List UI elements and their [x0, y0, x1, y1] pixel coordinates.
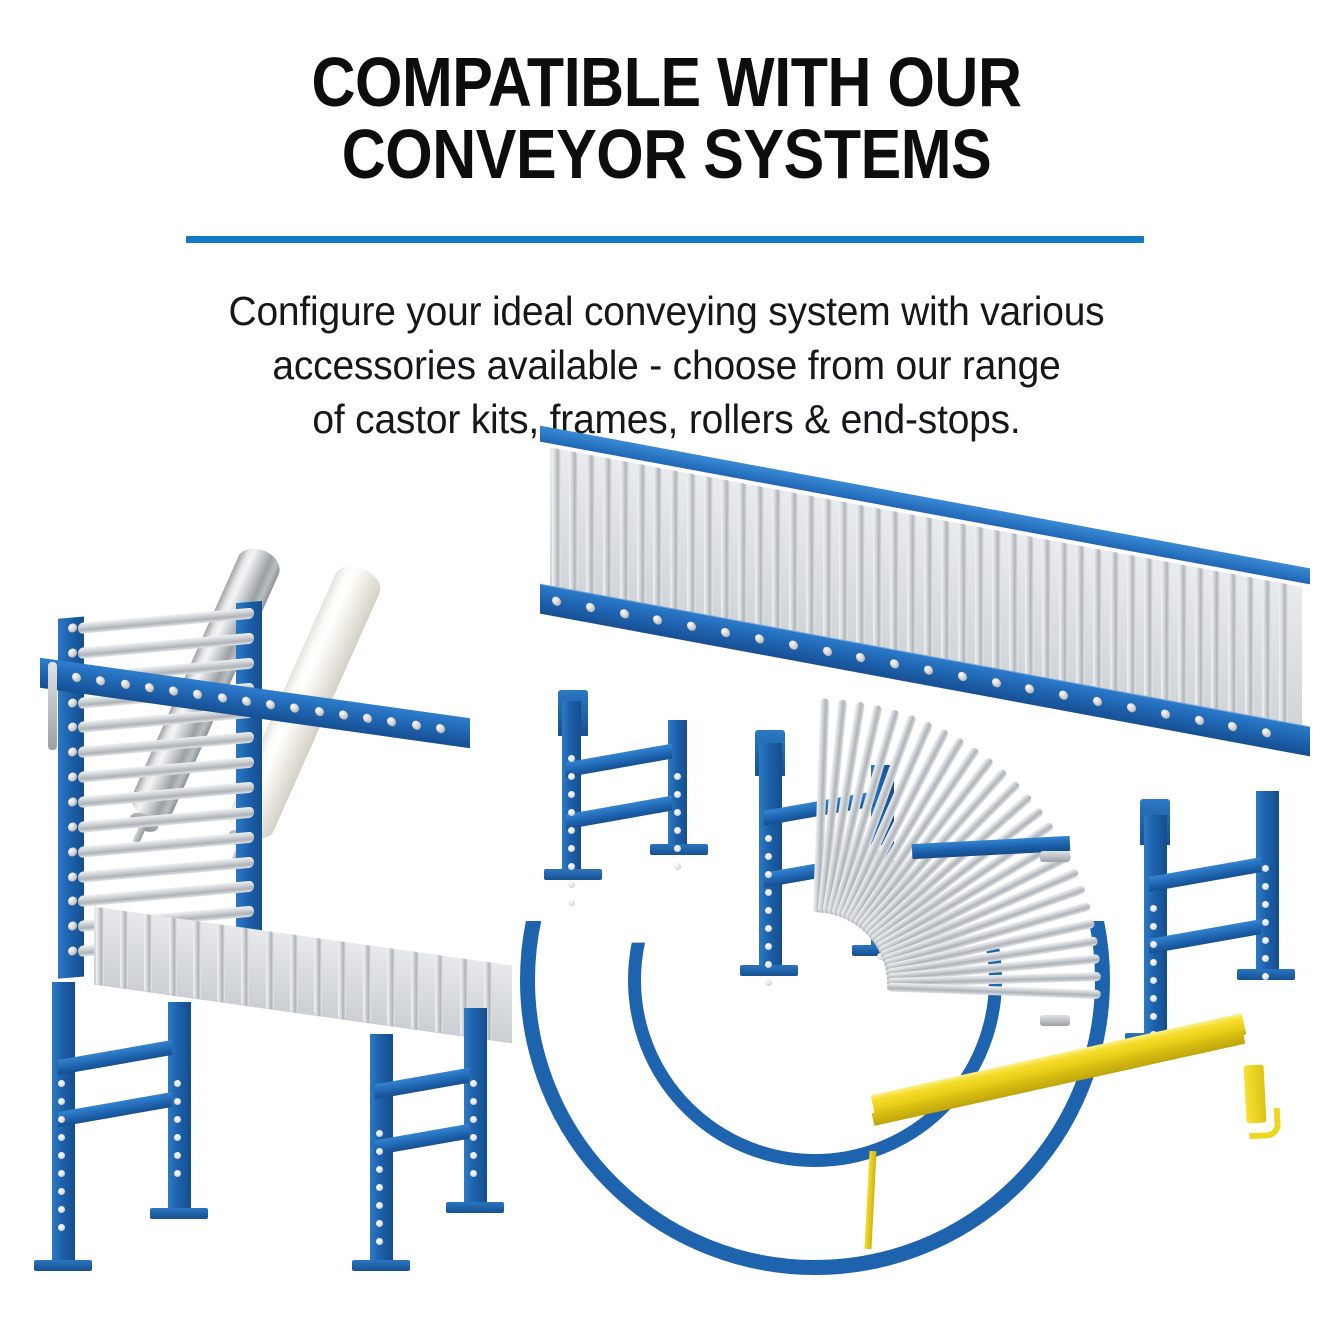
roller — [620, 460, 629, 612]
leg-pin-hole — [568, 827, 575, 834]
roller — [1144, 558, 1153, 710]
leg-pin-hole — [674, 809, 681, 816]
leg-foot-plate — [150, 1208, 208, 1219]
leg-pin-hole — [376, 1148, 383, 1155]
bearing-bolt — [290, 703, 299, 713]
roller — [411, 951, 419, 1030]
description-line-3: of castor kits, frames, rollers & end-st… — [33, 392, 1299, 446]
page-title: COMPATIBLE WITH OUR CONVEYOR SYSTEMS — [87, 46, 1247, 190]
roller — [738, 482, 747, 634]
roller — [856, 504, 865, 656]
product-gate-conveyor-image — [40, 610, 520, 1300]
roller — [687, 473, 696, 625]
leg-pin-hole — [1262, 901, 1269, 908]
bearing-bolt — [755, 633, 764, 644]
bearing-bolt — [1262, 727, 1271, 738]
roller — [78, 608, 254, 634]
leg-pin-hole — [58, 1170, 65, 1177]
roller — [924, 517, 933, 669]
bearing-bolt — [1093, 696, 1102, 707]
leg-cross-brace — [58, 1092, 172, 1127]
leg-pin-hole — [674, 827, 681, 834]
bearing-bolt — [620, 608, 629, 619]
leg-foot-plate — [352, 1260, 410, 1271]
leg-pin-hole — [470, 1098, 477, 1105]
leg-pin-hole — [58, 1188, 65, 1195]
bearing-bolt — [436, 723, 445, 733]
leg-pin-hole — [376, 1220, 383, 1227]
leg-pin-hole — [1262, 919, 1269, 926]
roller — [839, 501, 848, 653]
leg-pin-hole — [376, 1202, 383, 1209]
bearing-bolt — [958, 671, 967, 682]
roller — [721, 479, 730, 631]
leg-cross-brace — [566, 796, 672, 830]
roller — [363, 944, 371, 1023]
bearing-bolt — [339, 710, 348, 720]
roller — [1245, 576, 1254, 728]
leg-pin-hole — [568, 755, 575, 762]
bearing-bolt — [96, 676, 105, 686]
leg-pin-hole — [674, 791, 681, 798]
roller — [772, 489, 781, 641]
bearing-bolt — [412, 720, 421, 730]
leg-pin-hole — [568, 809, 575, 816]
leg-pin-hole — [470, 1080, 477, 1087]
leg-pin-hole — [376, 1166, 383, 1173]
roller — [290, 934, 298, 1013]
bearing-bolt — [387, 717, 396, 727]
roller — [1059, 542, 1068, 694]
bearing-bolt — [721, 627, 730, 638]
roller — [704, 476, 713, 628]
bearing-bolt — [1059, 690, 1068, 701]
leg-pin-hole — [58, 1098, 65, 1105]
roller — [958, 523, 967, 675]
leg-pin-hole — [470, 1152, 477, 1159]
bearing-bolt — [586, 602, 595, 613]
leg-pin-hole — [470, 1170, 477, 1177]
roller — [907, 514, 916, 666]
roller — [975, 526, 984, 678]
roller — [569, 451, 578, 603]
roller — [1161, 561, 1170, 713]
roller — [1178, 564, 1187, 716]
roller — [78, 782, 254, 808]
leg-pin-hole — [1262, 955, 1269, 962]
leg-pin-hole — [674, 773, 681, 780]
curve-coupling-bracket — [1040, 851, 1070, 862]
roller — [789, 492, 798, 644]
bearing-bolt — [856, 652, 865, 663]
leg-pin-hole — [1150, 923, 1157, 930]
leg-cross-brace — [58, 1040, 172, 1075]
end-stop-hook-right — [1243, 1065, 1266, 1124]
leg-pin-hole — [1262, 973, 1269, 980]
roller — [266, 931, 274, 1010]
leg-pin-hole — [58, 1134, 65, 1141]
bearing-bolt — [1195, 715, 1204, 726]
bearing-bolt — [992, 677, 1001, 688]
gate-section-rollers — [58, 601, 258, 618]
bearing-bolt — [924, 665, 933, 676]
roller — [806, 495, 815, 647]
end-stop-leg-left — [864, 1151, 876, 1249]
leg-pin-hole — [1150, 941, 1157, 948]
title-divider — [186, 236, 1144, 243]
roller — [653, 467, 662, 619]
roller — [338, 941, 346, 1020]
roller — [1009, 532, 1018, 684]
leg-cross-brace — [566, 744, 672, 778]
bearing-bolt — [363, 713, 372, 723]
leg-pin-hole — [376, 1184, 383, 1191]
leg-pin-hole — [1262, 865, 1269, 872]
bearing-bolt — [218, 693, 227, 703]
roller — [1093, 548, 1102, 700]
description-line-2: accessories available - choose from our … — [33, 338, 1299, 392]
curve-coupling-bracket — [1040, 1015, 1070, 1026]
roller — [670, 470, 679, 622]
leg-pin-hole — [1150, 977, 1157, 984]
leg-pin-hole — [58, 1224, 65, 1231]
roller — [1279, 583, 1288, 735]
roller — [1076, 545, 1085, 697]
leg-foot-plate — [34, 1260, 92, 1271]
leg-post — [1256, 791, 1279, 973]
bearing-bolt — [242, 696, 251, 706]
product-end-stop-image — [855, 1055, 1275, 1285]
roller — [873, 507, 882, 659]
leg-pin-hole — [470, 1116, 477, 1123]
roller — [1228, 573, 1237, 725]
leg-pin-hole — [1262, 937, 1269, 944]
roller — [387, 948, 395, 1027]
roller — [435, 955, 443, 1034]
roller — [78, 632, 254, 658]
roller — [1110, 551, 1119, 703]
roller — [217, 924, 225, 1003]
promo-banner: COMPATIBLE WITH OUR CONVEYOR SYSTEMS Con… — [0, 0, 1333, 1333]
roller — [169, 917, 177, 996]
leg-pin-hole — [1150, 995, 1157, 1002]
bearing-bolt — [266, 700, 275, 710]
leg-pin-hole — [1150, 905, 1157, 912]
description-line-1: Configure your ideal conveying system wi… — [33, 284, 1299, 338]
roller — [78, 831, 254, 857]
gate-conveyor-roller-bed — [94, 907, 512, 1044]
leg-pin-hole — [174, 1098, 181, 1105]
bearing-bolt — [1025, 684, 1034, 695]
headline-line-2: CONVEYOR SYSTEMS — [87, 118, 1247, 190]
leg-pin-hole — [470, 1134, 477, 1141]
roller — [586, 454, 595, 606]
bearing-bolt — [169, 686, 178, 696]
roller — [1127, 554, 1136, 706]
roller — [890, 511, 899, 663]
bearing-bolt — [687, 621, 696, 632]
roller — [78, 732, 254, 758]
roller — [78, 757, 254, 783]
roller — [314, 938, 322, 1017]
roller — [1025, 536, 1034, 688]
roller — [755, 485, 764, 637]
bearing-bolt — [1127, 702, 1136, 713]
roller — [1195, 567, 1204, 719]
bearing-bolt — [1228, 721, 1237, 732]
leg-pin-hole — [1150, 959, 1157, 966]
leg-pin-hole — [376, 1238, 383, 1245]
bearing-bolt — [315, 706, 324, 716]
leg-pin-hole — [1262, 883, 1269, 890]
bearing-bolt — [1161, 709, 1170, 720]
leg-pin-hole — [1150, 1013, 1157, 1020]
leg-pin-hole — [174, 1080, 181, 1087]
bearing-bolt — [193, 689, 202, 699]
bearing-bolt — [653, 615, 662, 626]
leg-pin-hole — [58, 1206, 65, 1213]
roller — [78, 806, 254, 832]
bearing-bolt — [823, 646, 832, 657]
bearing-bolt — [890, 659, 899, 670]
roller — [637, 464, 646, 616]
leg-pin-hole — [568, 791, 575, 798]
bearing-bolt — [789, 640, 798, 651]
leg-pin-hole — [376, 1130, 383, 1137]
bearing-bolt — [121, 679, 130, 689]
roller — [552, 448, 561, 600]
roller — [1042, 539, 1051, 691]
roller — [241, 927, 249, 1006]
leg-pin-hole — [58, 1152, 65, 1159]
leg-pin-hole — [58, 1116, 65, 1123]
roller — [193, 921, 201, 1000]
roller — [941, 520, 950, 672]
leg-pin-hole — [174, 1116, 181, 1123]
headline-line-1: COMPATIBLE WITH OUR — [87, 46, 1247, 118]
leg-pin-hole — [174, 1134, 181, 1141]
bearing-bolt — [72, 672, 81, 682]
leg-pin-hole — [58, 1080, 65, 1087]
leg-pin-hole — [568, 773, 575, 780]
roller — [603, 457, 612, 609]
roller — [1262, 579, 1271, 731]
roller — [823, 498, 832, 650]
roller — [992, 529, 1001, 681]
gate-gas-strut — [48, 662, 57, 750]
roller — [1211, 570, 1220, 722]
roller — [144, 914, 152, 993]
bearing-bolt — [552, 596, 561, 607]
roller — [78, 856, 254, 882]
leg-pin-hole — [765, 835, 772, 842]
description-text: Configure your ideal conveying system wi… — [33, 284, 1299, 446]
leg-foot-plate — [446, 1202, 504, 1213]
bearing-bolt — [145, 683, 154, 693]
leg-pin-hole — [174, 1152, 181, 1159]
roller — [120, 910, 128, 989]
leg-pin-hole — [174, 1170, 181, 1177]
roller — [96, 907, 104, 986]
straight-conveyor-rollers — [540, 434, 1310, 577]
